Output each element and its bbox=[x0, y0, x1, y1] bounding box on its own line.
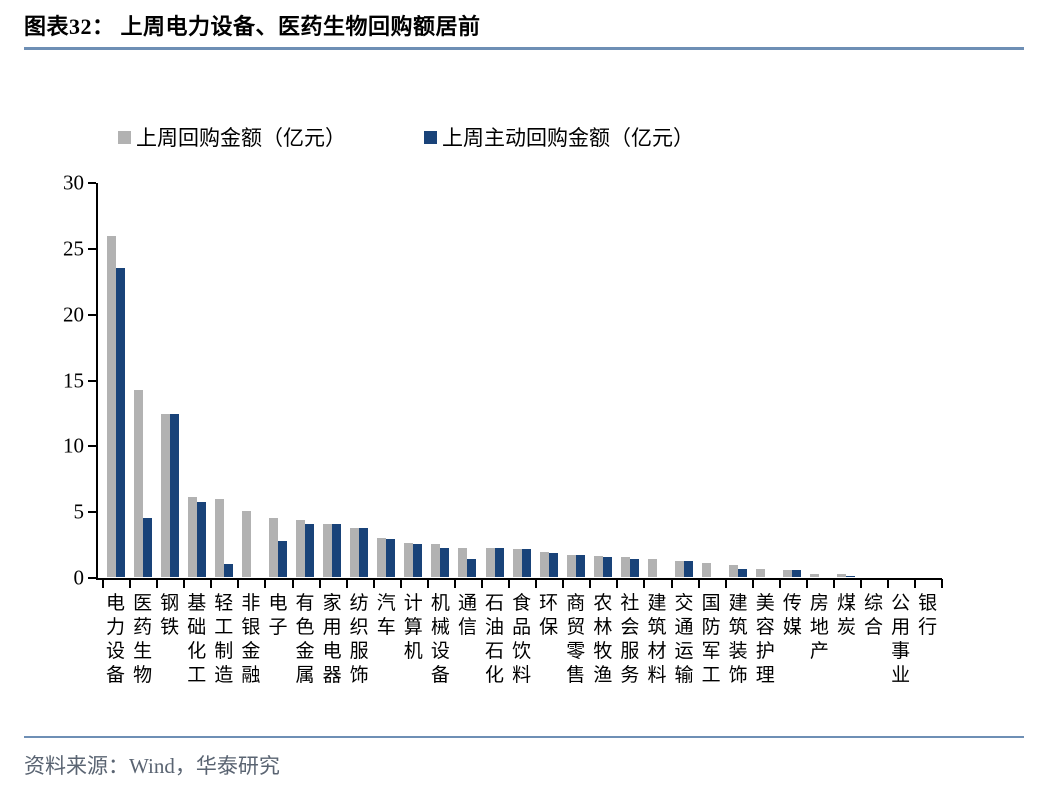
bar-group bbox=[264, 518, 291, 577]
x-axis-tick bbox=[616, 579, 618, 588]
bar-secondary bbox=[413, 544, 422, 577]
bar-group bbox=[129, 390, 156, 577]
page-title: 图表32： 上周电力设备、医药生物回购额居前 bbox=[24, 14, 1024, 40]
bar-group bbox=[589, 556, 616, 577]
legend-label: 上周主动回购金额（亿元） bbox=[442, 122, 694, 152]
y-axis-tick bbox=[88, 577, 96, 579]
x-axis-category-labels: 电力设备医药生物钢铁基础化工轻工制造非银金融电子有色金属家用电器纺织服饰汽车计算… bbox=[96, 592, 942, 712]
bar-group bbox=[616, 557, 643, 577]
bar-group bbox=[535, 552, 562, 577]
x-axis-tick bbox=[264, 579, 266, 588]
x-axis-category-label: 通信 bbox=[456, 592, 478, 640]
bar-group bbox=[806, 574, 833, 577]
bar-primary bbox=[242, 511, 251, 577]
bar-primary bbox=[621, 557, 630, 577]
x-axis-tick bbox=[643, 579, 645, 588]
x-axis-tick bbox=[698, 579, 700, 588]
x-axis-category-label: 石油石化 bbox=[484, 592, 506, 688]
x-axis-category-label: 美容护理 bbox=[754, 592, 776, 688]
y-axis-tick bbox=[88, 380, 96, 382]
legend-label: 上周回购金额（亿元） bbox=[136, 122, 346, 152]
x-axis-category-label: 基础化工 bbox=[186, 592, 208, 688]
bar-secondary bbox=[630, 559, 639, 577]
y-axis-tick-label: 10 bbox=[63, 434, 84, 459]
bar-secondary bbox=[684, 561, 693, 577]
x-axis-category-label: 有色金属 bbox=[294, 592, 316, 688]
bar-secondary bbox=[549, 553, 558, 577]
y-axis-tick bbox=[88, 511, 96, 513]
x-axis-category-label: 煤炭 bbox=[835, 592, 857, 640]
y-axis-tick-label: 0 bbox=[74, 566, 85, 591]
x-axis-tick bbox=[887, 579, 889, 588]
bar-secondary bbox=[846, 576, 855, 577]
x-axis-tick bbox=[752, 579, 754, 588]
bar-group bbox=[454, 548, 481, 577]
x-axis-tick bbox=[129, 579, 131, 588]
x-axis-tick bbox=[400, 579, 402, 588]
bar-group bbox=[779, 570, 806, 577]
bar-primary bbox=[810, 574, 819, 577]
x-axis-tick bbox=[806, 579, 808, 588]
chart-footer: 资料来源：Wind，华泰研究 bbox=[24, 736, 1024, 780]
bar-secondary bbox=[305, 524, 314, 577]
x-axis-category-label: 建筑材料 bbox=[646, 592, 668, 688]
x-axis-category-label: 环保 bbox=[538, 592, 560, 640]
legend-entry: 上周主动回购金额（亿元） bbox=[424, 122, 694, 152]
bar-group bbox=[643, 559, 670, 577]
bar-group bbox=[481, 548, 508, 577]
header-divider bbox=[24, 47, 1024, 50]
bar-secondary bbox=[495, 548, 504, 577]
bar-primary bbox=[215, 499, 224, 577]
legend-entry: 上周回购金额（亿元） bbox=[118, 122, 346, 152]
source-note: 资料来源：Wind，华泰研究 bbox=[24, 750, 1024, 780]
x-axis-category-label: 非银金融 bbox=[240, 592, 262, 688]
bar-secondary bbox=[386, 539, 395, 577]
bar-group bbox=[400, 543, 427, 577]
y-axis-tick bbox=[88, 182, 96, 184]
x-axis-category-label: 公用事业 bbox=[890, 592, 912, 688]
bar-primary bbox=[404, 543, 413, 577]
chart-legend: 上周回购金额（亿元）上周主动回购金额（亿元） bbox=[118, 122, 694, 152]
square-swatch-icon bbox=[118, 131, 131, 144]
bar-group bbox=[698, 563, 725, 577]
x-axis-category-label: 综合 bbox=[863, 592, 885, 640]
x-axis-tick bbox=[860, 579, 862, 588]
bar-group bbox=[508, 549, 535, 577]
bar-group bbox=[183, 497, 210, 577]
bar-group bbox=[102, 236, 129, 577]
x-axis-tick bbox=[779, 579, 781, 588]
x-axis-category-label: 汽车 bbox=[375, 592, 397, 640]
x-axis-tick bbox=[914, 579, 916, 588]
bar-primary bbox=[188, 497, 197, 577]
bar-primary bbox=[567, 555, 576, 577]
bar-primary bbox=[648, 559, 657, 577]
x-axis-tick bbox=[292, 579, 294, 588]
x-axis-tick bbox=[941, 579, 943, 588]
bar-group bbox=[319, 524, 346, 577]
bar-primary bbox=[134, 390, 143, 577]
x-axis-tick bbox=[102, 579, 104, 588]
x-axis-tick bbox=[319, 579, 321, 588]
x-axis-category-label: 电子 bbox=[267, 592, 289, 640]
x-axis-category-label: 计算机 bbox=[402, 592, 424, 664]
bar-primary bbox=[729, 565, 738, 577]
y-axis-tick-label: 25 bbox=[63, 236, 84, 261]
x-axis-category-label: 钢铁 bbox=[159, 592, 181, 640]
x-axis-category-label: 机械设备 bbox=[429, 592, 451, 688]
chart-plot-area: 051015202530 bbox=[96, 183, 942, 578]
bar-primary bbox=[756, 569, 765, 577]
x-axis-tick bbox=[562, 579, 564, 588]
bar-primary bbox=[486, 548, 495, 577]
bar-primary bbox=[161, 414, 170, 577]
y-axis-tick bbox=[88, 314, 96, 316]
x-axis-tick bbox=[589, 579, 591, 588]
x-axis-category-label: 医药生物 bbox=[132, 592, 154, 688]
bar-primary bbox=[431, 544, 440, 577]
x-axis-tick bbox=[210, 579, 212, 588]
y-axis-tick-label: 20 bbox=[63, 302, 84, 327]
bar-primary bbox=[702, 563, 711, 577]
bar-primary bbox=[377, 538, 386, 578]
x-axis-category-label: 社会服务 bbox=[619, 592, 641, 688]
x-axis-tick bbox=[156, 579, 158, 588]
bar-group bbox=[346, 528, 373, 577]
bar-group bbox=[373, 538, 400, 578]
x-axis-tick bbox=[671, 579, 673, 588]
bar-secondary bbox=[467, 559, 476, 577]
x-axis-category-label: 电力设备 bbox=[105, 592, 127, 688]
x-axis-category-label: 银行 bbox=[917, 592, 939, 640]
bar-group bbox=[671, 561, 698, 577]
bar-primary bbox=[837, 574, 846, 577]
x-axis-tick bbox=[183, 579, 185, 588]
bar-secondary bbox=[197, 502, 206, 577]
bar-group bbox=[210, 499, 237, 577]
x-axis-category-label: 轻工制造 bbox=[213, 592, 235, 688]
x-axis-tick bbox=[535, 579, 537, 588]
bar-group bbox=[156, 414, 183, 577]
bar-primary bbox=[269, 518, 278, 577]
x-axis-tick bbox=[481, 579, 483, 588]
x-axis-tick bbox=[725, 579, 727, 588]
x-axis-tick bbox=[454, 579, 456, 588]
x-axis-category-label: 建筑装饰 bbox=[727, 592, 749, 688]
x-axis-line bbox=[96, 578, 942, 580]
x-axis-category-label: 国防军工 bbox=[700, 592, 722, 688]
bar-primary bbox=[350, 528, 359, 577]
bar-primary bbox=[107, 236, 116, 577]
x-axis-tick bbox=[427, 579, 429, 588]
bar-group bbox=[562, 555, 589, 577]
y-axis-tick-label: 15 bbox=[63, 368, 84, 393]
bar-secondary bbox=[332, 524, 341, 577]
x-axis-tick bbox=[833, 579, 835, 588]
bar-group bbox=[427, 544, 454, 577]
bar-group bbox=[725, 565, 752, 577]
x-axis-tick bbox=[373, 579, 375, 588]
x-axis-tick bbox=[237, 579, 239, 588]
bar-group bbox=[752, 569, 779, 577]
bar-secondary bbox=[792, 570, 801, 577]
y-axis-line bbox=[96, 183, 98, 579]
bar-group bbox=[237, 511, 264, 577]
bar-secondary bbox=[278, 541, 287, 577]
bar-secondary bbox=[738, 569, 747, 577]
y-axis-tick bbox=[88, 248, 96, 250]
bar-secondary bbox=[440, 548, 449, 577]
x-axis-category-label: 房地产 bbox=[808, 592, 830, 664]
bar-secondary bbox=[576, 555, 585, 577]
bar-primary bbox=[513, 549, 522, 577]
bar-primary bbox=[458, 548, 467, 577]
x-axis-category-label: 纺织服饰 bbox=[348, 592, 370, 688]
x-axis-category-label: 传媒 bbox=[781, 592, 803, 640]
x-axis-tick bbox=[508, 579, 510, 588]
footer-divider bbox=[24, 736, 1024, 738]
square-swatch-icon bbox=[424, 131, 437, 144]
y-axis-tick-label: 5 bbox=[74, 500, 85, 525]
y-axis-tick-label: 30 bbox=[63, 171, 84, 196]
bar-primary bbox=[296, 520, 305, 577]
bar-secondary bbox=[170, 414, 179, 577]
bar-group bbox=[833, 574, 860, 577]
bar-primary bbox=[540, 552, 549, 577]
x-axis-category-label: 交通运输 bbox=[673, 592, 695, 688]
chart-header: 图表32： 上周电力设备、医药生物回购额居前 bbox=[24, 14, 1024, 50]
x-axis-category-label: 农林牧渔 bbox=[592, 592, 614, 688]
bar-secondary bbox=[603, 557, 612, 577]
bar-primary bbox=[783, 570, 792, 577]
bar-primary bbox=[675, 561, 684, 577]
bar-secondary bbox=[522, 549, 531, 577]
bar-primary bbox=[594, 556, 603, 577]
y-axis-tick bbox=[88, 445, 96, 447]
bar-group bbox=[292, 520, 319, 577]
bar-primary bbox=[323, 524, 332, 577]
bar-secondary bbox=[143, 518, 152, 577]
bar-secondary bbox=[116, 268, 125, 577]
x-axis-category-label: 商贸零售 bbox=[565, 592, 587, 688]
x-axis-category-label: 食品饮料 bbox=[511, 592, 533, 688]
bar-secondary bbox=[224, 564, 233, 577]
bar-secondary bbox=[359, 528, 368, 577]
x-axis-tick bbox=[346, 579, 348, 588]
x-axis-category-label: 家用电器 bbox=[321, 592, 343, 688]
